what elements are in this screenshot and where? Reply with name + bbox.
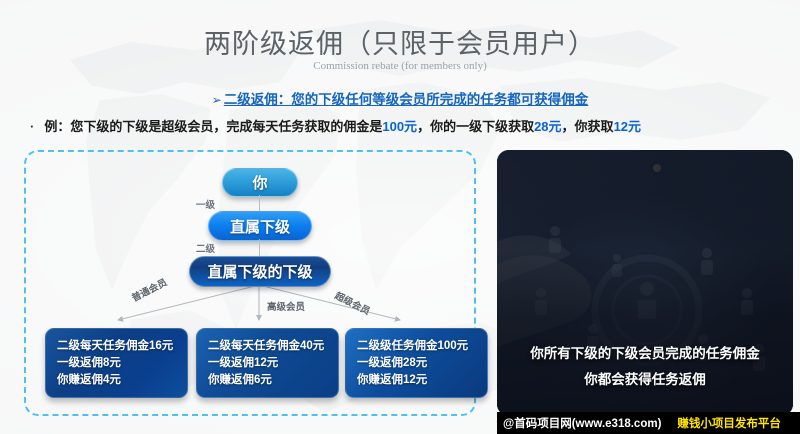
result-card-super[interactable]: 二级级任务佣金100元 一级返佣28元 你赚返佣12元 [345,328,488,398]
card-line: 你赚返佣6元 [208,372,338,389]
card-line: 一级返佣8元 [57,355,187,372]
summary-heading-line1: 你所有下级的下级会员完成的任务佣金 [497,342,793,362]
branch-label-senior-member: 高级会员 [267,299,305,313]
card-line: 二级每天任务佣金16元 [57,338,187,355]
tree-node-direct-subordinate[interactable]: 直属下级 [208,211,312,241]
card-line: 一级返佣28元 [357,355,487,372]
tree-level-label-1: 一级 [196,197,215,211]
example-part2: ，你的一级下级获取 [417,119,534,134]
footer-site-label: @首码项目网(www.e318.com) [503,415,661,431]
example-highlight-100: 100元 [382,119,417,134]
bullet-dot-icon: · [30,119,34,134]
lead-text: 二级返佣：您的下级任何等级会员所完成的任务都可获得佣金 [224,92,589,107]
tree-node-sub-subordinate[interactable]: 直属下级的下级 [189,256,331,287]
tree-node-you[interactable]: 你 [222,168,298,197]
arrow-bullet-icon: ➢ [212,93,222,107]
summary-panel: 你所有下级的下级会员完成的任务佣金 你都会获得任务返佣 你和下级，下级的下级都是… [497,150,793,416]
result-card-normal[interactable]: 二级每天任务佣金16元 一级返佣8元 你赚返佣4元 [45,328,188,398]
card-line: 一级返佣12元 [208,355,338,372]
footer-bar: @首码项目网(www.e318.com) 赚钱小项目发布平台 [497,412,800,434]
lead-statement: ➢二级返佣：您的下级任何等级会员所完成的任务都可获得佣金 [0,88,800,108]
card-line: 你赚返佣12元 [357,372,487,389]
page-title: 两阶级返佣（只限于会员用户） [0,22,800,61]
tree-level-label-2: 二级 [196,241,215,255]
tree-connector-2 [259,239,260,256]
example-highlight-28: 28元 [534,119,561,134]
result-card-senior[interactable]: 二级每天任务佣金40元 一级返佣12元 你赚返佣6元 [196,328,339,398]
example-part3: ，你获取 [562,119,614,134]
card-line: 二级每天任务佣金40元 [208,338,338,355]
example-statement: ·例：您下级的下级是超级会员，完成每天任务获取的佣金是100元，你的一级下级获取… [30,116,790,135]
example-part1: 例：您下级的下级是超级会员，完成每天任务获取的佣金是 [44,119,382,134]
summary-heading-line2: 你都会获得任务返佣 [497,368,793,388]
card-line: 你赚返佣4元 [57,372,187,389]
footer-slogan-label: 赚钱小项目发布平台 [677,415,781,431]
page-subtitle: Commission rebate (for members only) [0,60,800,72]
example-highlight-12: 12元 [614,119,641,134]
tree-connector-1 [259,195,260,211]
card-line: 二级级任务佣金100元 [357,338,487,355]
